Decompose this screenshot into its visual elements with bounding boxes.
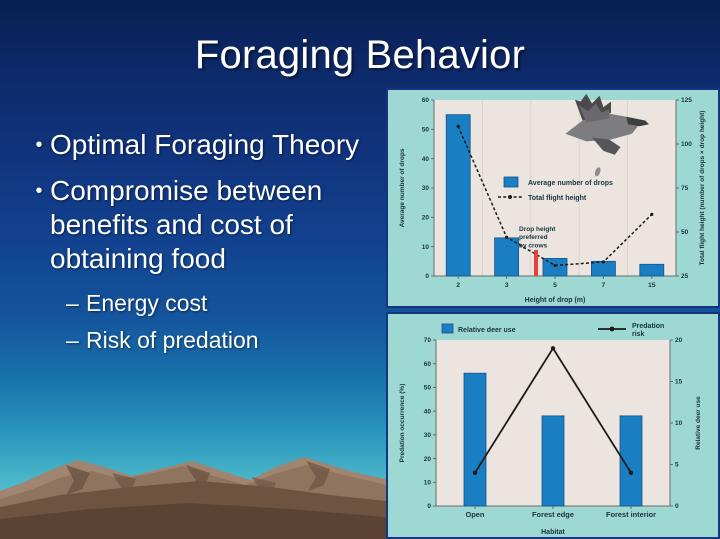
sub-bullet-item-2: – Risk of predation <box>66 325 376 356</box>
legend-line-marker <box>508 195 512 199</box>
annotation-text: Drop height <box>519 226 556 233</box>
x-axis-tick-label: 2 <box>456 282 460 289</box>
y-axis-tick-label: 20 <box>424 456 432 463</box>
y-axis-title: Predation occurrence (%) <box>399 384 406 463</box>
crow-drop-chart-panel: 0102030405060255075100125235715Average n… <box>386 88 720 308</box>
y2-axis-title: Relative deer use <box>695 396 702 450</box>
line-data-point <box>650 213 653 216</box>
x-axis-tick-label: 7 <box>602 282 606 289</box>
y-axis-tick-label: 10 <box>422 244 430 251</box>
annotation-text: preferred <box>519 234 548 241</box>
x-axis-tick-label: Forest interior <box>606 510 656 519</box>
mountain-silhouette-graphic <box>0 447 386 539</box>
legend-label-line-2: risk <box>632 331 645 338</box>
line-data-point <box>457 125 460 128</box>
bar <box>495 238 519 276</box>
y2-axis-tick-label: 100 <box>681 141 692 148</box>
line-data-point <box>553 264 556 267</box>
deer-habitat-chart-panel: 01020304050607005101520OpenForest edgeFo… <box>386 312 720 539</box>
y-axis-tick-label: 50 <box>422 127 430 134</box>
y2-axis-tick-label: 50 <box>681 229 689 236</box>
legend-label-line: Total flight height <box>528 195 587 202</box>
legend-swatch-bar <box>504 177 518 187</box>
x-axis-tick-label: 15 <box>648 282 656 289</box>
y2-axis-tick-label: 15 <box>675 379 683 386</box>
legend-label-bar: Average number of drops <box>528 180 613 187</box>
bullet-list: • Optimal Foraging Theory • Compromise b… <box>28 128 376 356</box>
y2-axis-tick-label: 125 <box>681 97 692 104</box>
y-axis-tick-label: 20 <box>422 215 430 222</box>
y2-axis-title: Total flight height (number of drops × d… <box>699 111 706 266</box>
bullet-marker-icon: • <box>28 128 50 162</box>
slide-title: Foraging Behavior <box>0 33 720 78</box>
y-axis-tick-label: 30 <box>422 185 430 192</box>
x-axis-tick-label: 5 <box>553 282 557 289</box>
y-axis-title: Average number of drops <box>399 148 406 227</box>
y2-axis-tick-label: 25 <box>681 273 689 280</box>
legend-swatch-bar <box>442 324 453 333</box>
preferred-height-marker <box>534 250 538 276</box>
sub-bullet-item-1: – Energy cost <box>66 288 376 319</box>
y-axis-tick-label: 60 <box>422 97 430 104</box>
line-data-point <box>602 260 605 263</box>
line-data-point <box>551 346 555 350</box>
annotation-text: by crows <box>519 242 548 249</box>
sub-bullet-text: Energy cost <box>86 288 207 319</box>
y2-axis-tick-label: 5 <box>675 462 679 469</box>
x-axis-tick-label: Open <box>466 510 485 519</box>
bullet-item-1: • Optimal Foraging Theory <box>28 128 376 162</box>
bar <box>591 261 615 276</box>
y-axis-tick-label: 60 <box>424 361 432 368</box>
x-axis-tick-label: Forest edge <box>532 510 574 519</box>
y-axis-tick-label: 30 <box>424 432 432 439</box>
legend-label-bar: Relative deer use <box>458 327 516 334</box>
x-axis-title: Habitat <box>541 529 565 536</box>
bullet-item-2: • Compromise between benefits and cost o… <box>28 174 376 276</box>
bar <box>464 373 486 506</box>
deer-habitat-chart-svg: 01020304050607005101520OpenForest edgeFo… <box>388 314 718 537</box>
y-axis-tick-label: 40 <box>422 156 430 163</box>
y2-axis-tick-label: 0 <box>675 503 679 510</box>
bar <box>640 264 664 276</box>
line-data-point <box>473 471 477 475</box>
y-axis-tick-label: 10 <box>424 479 432 486</box>
y-axis-tick-label: 70 <box>424 337 432 344</box>
y-axis-tick-label: 50 <box>424 385 432 392</box>
bar <box>446 115 470 276</box>
y-axis-tick-label: 40 <box>424 408 432 415</box>
line-data-point <box>505 236 508 239</box>
sub-bullet-marker-icon: – <box>66 325 86 356</box>
line-data-point <box>629 471 633 475</box>
y-axis-tick-label: 0 <box>425 273 429 280</box>
x-axis-title: Height of drop (m) <box>525 297 586 304</box>
legend-line-marker <box>610 327 615 332</box>
slide-canvas: Foraging Behavior • Optimal Foraging The… <box>0 0 720 539</box>
bullet-text: Compromise between benefits and cost of … <box>50 174 376 276</box>
bullet-marker-icon: • <box>28 174 50 208</box>
sub-bullet-text: Risk of predation <box>86 325 259 356</box>
bar <box>542 416 564 506</box>
y-axis-tick-label: 0 <box>427 503 431 510</box>
x-axis-tick-label: 3 <box>505 282 509 289</box>
legend-label-line: Predation <box>632 323 664 330</box>
sub-bullet-marker-icon: – <box>66 288 86 319</box>
y2-axis-tick-label: 75 <box>681 185 689 192</box>
y2-axis-tick-label: 20 <box>675 337 683 344</box>
y2-axis-tick-label: 10 <box>675 420 683 427</box>
bullet-text: Optimal Foraging Theory <box>50 128 359 162</box>
crow-drop-chart-svg: 0102030405060255075100125235715Average n… <box>388 90 718 306</box>
